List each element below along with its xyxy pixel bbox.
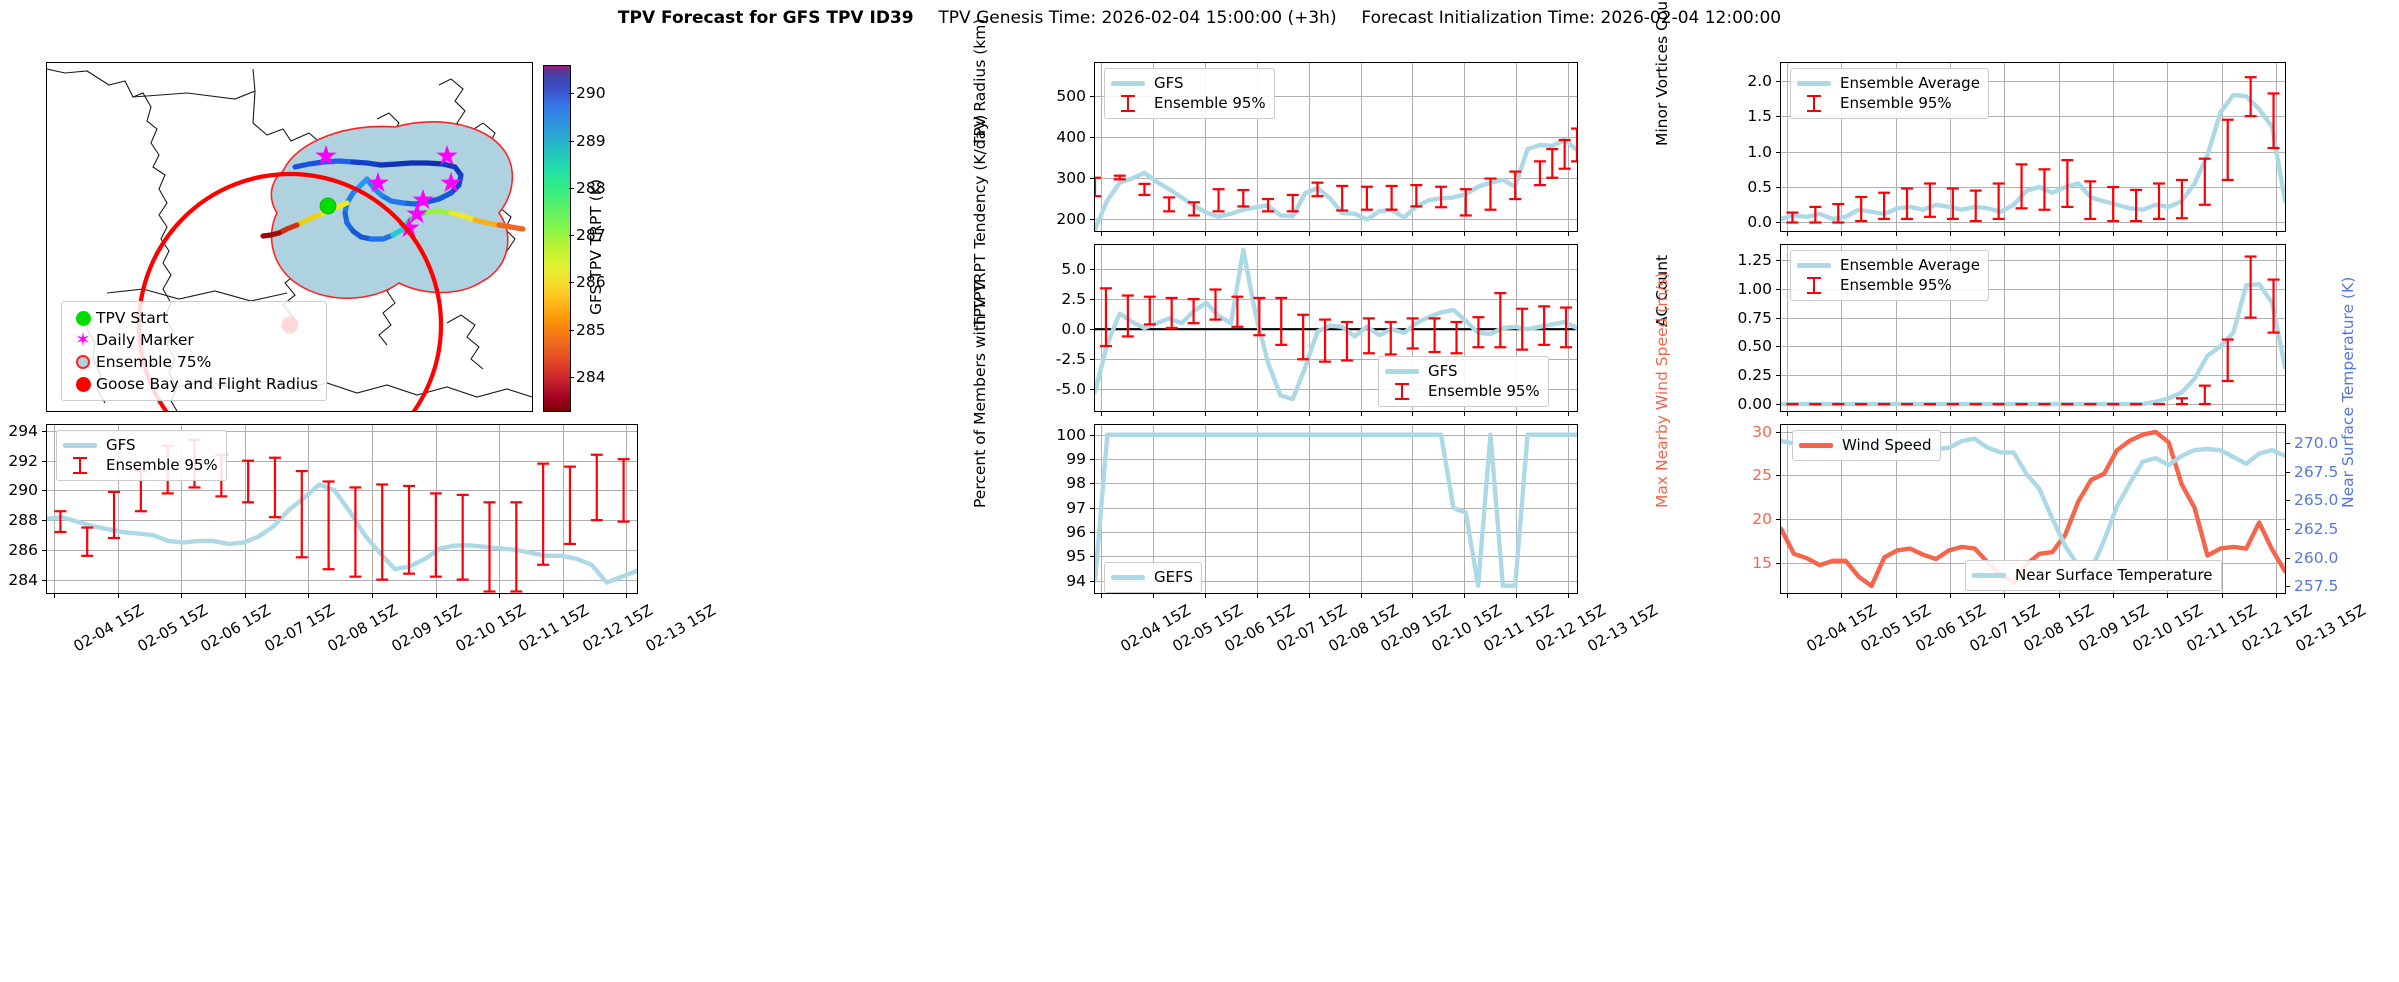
green-dot-icon xyxy=(70,311,96,326)
figure-root: TPV Forecast for GFS TPV ID39 TPV Genesi… xyxy=(0,0,2399,982)
y-tick-label: -5.0 xyxy=(1012,380,1086,398)
x-tickmark xyxy=(2167,232,2168,236)
y-tickmark xyxy=(1090,299,1094,300)
x-tickmark xyxy=(1153,412,1154,416)
x-tickmark xyxy=(1568,412,1569,416)
legend-label: GFS xyxy=(1154,74,1184,92)
y-tickmark xyxy=(1776,187,1780,188)
y-tickmark xyxy=(1776,152,1780,153)
x-tickmark xyxy=(1568,594,1569,598)
y-tick-label: 286 xyxy=(0,541,38,559)
y-tick-label: 97 xyxy=(1012,499,1086,517)
y-tick-label-right: 262.5 xyxy=(2294,520,2338,538)
x-tickmark xyxy=(1568,232,1569,236)
y-tick-label: -2.5 xyxy=(1012,350,1086,368)
x-tickmark xyxy=(1787,232,1788,236)
x-tickmark xyxy=(1787,594,1788,598)
x-tickmark xyxy=(2004,594,2005,598)
x-tickmark xyxy=(2222,232,2223,236)
y-tickmark xyxy=(1776,289,1780,290)
x-tickmark xyxy=(1205,232,1206,236)
map-legend-item-daily-marker: ✶ Daily Marker xyxy=(70,329,318,351)
x-tickmark xyxy=(2113,594,2114,598)
y-tickmark xyxy=(1090,96,1094,97)
x-tickmark xyxy=(1516,594,1517,598)
x-tickmark xyxy=(2222,412,2223,416)
x-tickmark xyxy=(1841,594,1842,598)
map-legend-label: Ensemble 75% xyxy=(96,353,211,371)
colorbar-label: GFS TPV TRPT (K) xyxy=(587,179,605,315)
x-tickmark xyxy=(2113,412,2114,416)
legend-entry: Ensemble Average xyxy=(1797,255,1980,275)
y-tick-label: 0.25 xyxy=(1698,366,1772,384)
y-tick-label: 0.50 xyxy=(1698,337,1772,355)
figure-title: TPV Forecast for GFS TPV ID39 TPV Genesi… xyxy=(0,8,2399,28)
legend-entry: Ensemble 95% xyxy=(63,455,218,475)
y-tickmark xyxy=(1776,375,1780,376)
legend-wind_and_temperature: Wind Speed xyxy=(1792,430,1941,461)
title-main: TPV Forecast for GFS TPV ID39 xyxy=(618,8,914,28)
x-tick-label: 02-07 15Z xyxy=(261,601,337,655)
y-tickmark-right xyxy=(2286,500,2290,501)
y-tickmark xyxy=(1090,329,1094,330)
x-tickmark xyxy=(1896,232,1897,236)
y-tick-label-right: 270.0 xyxy=(2294,434,2338,452)
x-tickmark xyxy=(1257,412,1258,416)
line-swatch-icon xyxy=(1797,263,1831,268)
x-tickmark xyxy=(1257,594,1258,598)
x-tickmark xyxy=(1896,412,1897,416)
tpv-track-map[interactable]: TPV Start ✶ Daily Marker Ensemble 75% Go… xyxy=(46,62,533,412)
x-tickmark xyxy=(1153,594,1154,598)
legend-label: Ensemble 95% xyxy=(1840,94,1952,112)
x-tickmark xyxy=(372,594,373,598)
y-tick-label: 30 xyxy=(1698,423,1772,441)
y-tickmark xyxy=(42,580,46,581)
y-tick-label: 1.0 xyxy=(1698,143,1772,161)
y-tick-label: 290 xyxy=(0,481,38,499)
x-tick-label: 02-08 15Z xyxy=(325,601,401,655)
x-tickmark xyxy=(1412,594,1413,598)
legend-minor_vortices_count: Ensemble AverageEnsemble 95% xyxy=(1790,68,1989,119)
x-tickmark xyxy=(1257,232,1258,236)
y-tickmark xyxy=(1090,359,1094,360)
colorbar-tick-label: 285 xyxy=(576,321,606,339)
x-tickmark xyxy=(1516,232,1517,236)
x-tickmark xyxy=(1412,232,1413,236)
y-tick-label: 25 xyxy=(1698,466,1772,484)
x-tickmark xyxy=(1896,594,1897,598)
legend-label: Ensemble 95% xyxy=(106,456,218,474)
x-tick-label: 02-12 15Z xyxy=(579,601,655,655)
x-tickmark xyxy=(181,594,182,598)
y-tick-label: 100 xyxy=(1012,426,1086,444)
y-tickmark xyxy=(1776,346,1780,347)
x-tickmark xyxy=(1412,412,1413,416)
y-tick-label-right: 260.0 xyxy=(2294,549,2338,567)
legend-entry: Ensemble 95% xyxy=(1111,93,1266,113)
title-genesis: TPV Genesis Time: 2026-02-04 15:00:00 (+… xyxy=(938,8,1336,28)
errorbar-icon xyxy=(1797,95,1831,112)
y-tickmark xyxy=(42,520,46,521)
y-tickmark xyxy=(1090,508,1094,509)
x-tickmark xyxy=(2167,594,2168,598)
map-legend-label: Goose Bay and Flight Radius xyxy=(96,375,318,393)
y-tick-label: 294 xyxy=(0,422,38,440)
map-legend-item-tpv-start: TPV Start xyxy=(70,307,318,329)
y-tickmark xyxy=(1776,519,1780,520)
x-tick-label: 02-09 15Z xyxy=(388,601,464,655)
y-tick-label: 1.25 xyxy=(1698,251,1772,269)
y-tickmark xyxy=(42,431,46,432)
y-tick-label: 0.5 xyxy=(1698,178,1772,196)
map-legend: TPV Start ✶ Daily Marker Ensemble 75% Go… xyxy=(61,301,327,401)
x-tickmark xyxy=(1101,594,1102,598)
x-tickmark xyxy=(2059,412,2060,416)
x-tickmark xyxy=(1101,232,1102,236)
legend-entry: Near Surface Temperature xyxy=(1972,565,2213,585)
line-swatch-icon xyxy=(1797,81,1831,86)
y-tickmark xyxy=(42,461,46,462)
x-tickmark xyxy=(1309,594,1310,598)
legend-entry: GEFS xyxy=(1111,567,1193,587)
y-tick-label: 2.0 xyxy=(1698,72,1772,90)
x-tickmark xyxy=(54,594,55,598)
y-tickmark xyxy=(1776,81,1780,82)
y-tickmark xyxy=(1776,260,1780,261)
y-tickmark xyxy=(1776,116,1780,117)
legend-label: Ensemble Average xyxy=(1840,74,1980,92)
colorbar-tickmark xyxy=(569,330,574,331)
map-legend-item-goose-bay: Goose Bay and Flight Radius xyxy=(70,373,318,395)
x-tickmark xyxy=(2276,232,2277,236)
legend-label: Ensemble 95% xyxy=(1154,94,1266,112)
legend-label: GFS xyxy=(106,436,136,454)
y-tickmark-right xyxy=(2286,472,2290,473)
x-tickmark xyxy=(1205,412,1206,416)
legend-entry: Wind Speed xyxy=(1799,435,1932,455)
y-tickmark xyxy=(1776,222,1780,223)
series-line xyxy=(47,484,637,582)
x-tickmark xyxy=(2222,594,2223,598)
y-tick-label: 0.0 xyxy=(1698,213,1772,231)
x-tickmark xyxy=(2167,412,2168,416)
y-tickmark xyxy=(1090,389,1094,390)
x-tickmark xyxy=(245,594,246,598)
y-tick-label: 95 xyxy=(1012,547,1086,565)
x-tickmark xyxy=(118,594,119,598)
y-tick-label: 0.0 xyxy=(1012,320,1086,338)
x-tickmark xyxy=(1787,412,1788,416)
x-tickmark xyxy=(2059,232,2060,236)
y-tickmark xyxy=(1090,459,1094,460)
y-tick-label: 0.00 xyxy=(1698,395,1772,413)
x-tickmark xyxy=(1950,594,1951,598)
y-tick-label-right: 267.5 xyxy=(2294,463,2338,481)
legend-ac_count: Ensemble AverageEnsemble 95% xyxy=(1790,250,1989,301)
y-tickmark-right xyxy=(2286,529,2290,530)
legend-temperature: Near Surface Temperature xyxy=(1965,560,2222,591)
y-tick-label: 94 xyxy=(1012,572,1086,590)
y-tick-label: 0.75 xyxy=(1698,309,1772,327)
y-tickmark xyxy=(42,550,46,551)
x-tickmark xyxy=(1464,594,1465,598)
legend-tpv_trpt_tendency: GFSEnsemble 95% xyxy=(1378,356,1549,407)
colorbar-tick-label: 284 xyxy=(576,368,606,386)
y-tick-label: 20 xyxy=(1698,510,1772,528)
errorbar-icon xyxy=(1111,95,1145,112)
legend-entry: Ensemble 95% xyxy=(1797,275,1980,295)
colorbar-tickmark xyxy=(569,141,574,142)
x-tickmark xyxy=(1361,412,1362,416)
y-tick-label: 400 xyxy=(1012,128,1086,146)
legend-label: Ensemble Average xyxy=(1840,256,1980,274)
y-tickmark xyxy=(1776,404,1780,405)
x-tickmark xyxy=(2113,232,2114,236)
x-tick-label: 02-04 15Z xyxy=(70,601,146,655)
x-tickmark xyxy=(563,594,564,598)
legend-label: Ensemble 95% xyxy=(1428,382,1540,400)
y-tickmark-right xyxy=(2286,443,2290,444)
x-tickmark xyxy=(1464,412,1465,416)
legend-entry: Ensemble 95% xyxy=(1797,93,1980,113)
x-tickmark xyxy=(1841,412,1842,416)
y-tick-label: 200 xyxy=(1012,210,1086,228)
x-tickmark xyxy=(2059,594,2060,598)
y-tick-label-right: 257.5 xyxy=(2294,577,2338,595)
y-tickmark xyxy=(1090,435,1094,436)
x-tickmark xyxy=(2276,594,2277,598)
y-tickmark-right xyxy=(2286,558,2290,559)
x-tickmark xyxy=(1205,594,1206,598)
y-tickmark xyxy=(1090,269,1094,270)
y-tickmark xyxy=(1776,318,1780,319)
colorbar-tickmark xyxy=(569,188,574,189)
line-swatch-icon xyxy=(1385,369,1419,374)
x-tick-label: 02-10 15Z xyxy=(452,601,528,655)
red-dot-icon xyxy=(70,377,96,392)
errorbar-icon xyxy=(1797,277,1831,294)
y-tick-label: 500 xyxy=(1012,87,1086,105)
colorbar-tickmark xyxy=(569,377,574,378)
x-tickmark xyxy=(1950,412,1951,416)
line-swatch-icon xyxy=(1799,443,1833,448)
colorbar-tick-label: 290 xyxy=(576,84,606,102)
y-tickmark xyxy=(1090,581,1094,582)
x-tick-label: 02-11 15Z xyxy=(516,601,592,655)
y-tickmark-right xyxy=(2286,586,2290,587)
y-tick-label: 300 xyxy=(1012,169,1086,187)
x-tickmark xyxy=(626,594,627,598)
legend-label: Ensemble 95% xyxy=(1840,276,1952,294)
x-tick-label: 02-06 15Z xyxy=(198,601,274,655)
legend-label: GEFS xyxy=(1154,568,1193,586)
colorbar-tickmark xyxy=(569,282,574,283)
line-swatch-icon xyxy=(1111,575,1145,580)
line-swatch-icon xyxy=(63,443,97,448)
x-tick-label: 02-13 15Z xyxy=(643,601,719,655)
colorbar xyxy=(543,65,571,412)
y-tick-label: 15 xyxy=(1698,554,1772,572)
legend-tpv_trpt: GFSEnsemble 95% xyxy=(56,430,227,481)
map-legend-label: TPV Start xyxy=(96,309,168,327)
x-tickmark xyxy=(1516,412,1517,416)
legend-entry: GFS xyxy=(63,435,218,455)
y-tick-label: 5.0 xyxy=(1012,260,1086,278)
title-init: Forecast Initialization Time: 2026-02-04… xyxy=(1361,8,1781,28)
x-tickmark xyxy=(1153,232,1154,236)
x-tickmark xyxy=(2004,232,2005,236)
x-tickmark xyxy=(1309,412,1310,416)
y-tick-label: 292 xyxy=(0,452,38,470)
legend-percent_members_with_tpv: GEFS xyxy=(1104,562,1202,593)
errorbar-icon xyxy=(1385,383,1419,400)
y-tickmark xyxy=(1090,556,1094,557)
x-tickmark xyxy=(1950,232,1951,236)
x-tickmark xyxy=(1464,232,1465,236)
legend-entry: GFS xyxy=(1111,73,1266,93)
y-tick-label: 288 xyxy=(0,511,38,529)
y-tick-label: 1.5 xyxy=(1698,107,1772,125)
y-tickmark xyxy=(42,490,46,491)
magenta-star-icon: ✶ xyxy=(70,331,96,350)
line-swatch-icon xyxy=(1111,81,1145,86)
y-tickmark xyxy=(1090,178,1094,179)
legend-entry: Ensemble 95% xyxy=(1385,381,1540,401)
x-tick-label: 02-05 15Z xyxy=(134,601,210,655)
map-legend-label: Daily Marker xyxy=(96,331,194,349)
ensemble-75-region xyxy=(271,122,512,298)
y-tick-label: 2.5 xyxy=(1012,290,1086,308)
series-line xyxy=(1095,140,1577,229)
x-tickmark xyxy=(1361,232,1362,236)
y-tick-label: 99 xyxy=(1012,450,1086,468)
x-tickmark xyxy=(2276,412,2277,416)
colorbar-tickmark xyxy=(569,93,574,94)
y-tick-label: 96 xyxy=(1012,523,1086,541)
legend-entry: Ensemble Average xyxy=(1797,73,1980,93)
x-tickmark xyxy=(1361,594,1362,598)
colorbar-tickmark xyxy=(569,235,574,236)
y-tickmark xyxy=(1090,219,1094,220)
y-tickmark xyxy=(1090,137,1094,138)
y-tickmark xyxy=(1776,563,1780,564)
y-tick-label-right: 265.0 xyxy=(2294,491,2338,509)
legend-tpv_radius: GFSEnsemble 95% xyxy=(1104,68,1275,119)
x-tickmark xyxy=(1309,232,1310,236)
x-tickmark xyxy=(308,594,309,598)
y-tickmark xyxy=(1090,483,1094,484)
legend-label: Wind Speed xyxy=(1842,436,1932,454)
x-tickmark xyxy=(2004,412,2005,416)
y-tickmark xyxy=(1776,432,1780,433)
blue-ring-icon xyxy=(70,355,96,369)
y-tick-label: 284 xyxy=(0,571,38,589)
y-tickmark xyxy=(1090,532,1094,533)
map-legend-item-ensemble-75: Ensemble 75% xyxy=(70,351,318,373)
legend-label: Near Surface Temperature xyxy=(2015,566,2213,584)
legend-label: GFS xyxy=(1428,362,1458,380)
x-tickmark xyxy=(1101,412,1102,416)
line-swatch-icon xyxy=(1972,573,2006,578)
errorbar-icon xyxy=(63,457,97,474)
y-tick-label: 1.00 xyxy=(1698,280,1772,298)
x-tickmark xyxy=(1841,232,1842,236)
y-tickmark xyxy=(1776,475,1780,476)
legend-entry: GFS xyxy=(1385,361,1540,381)
tpv-start-marker xyxy=(320,198,336,214)
x-tickmark xyxy=(499,594,500,598)
x-tickmark xyxy=(436,594,437,598)
colorbar-tick-label: 289 xyxy=(576,132,606,150)
y-tick-label: 98 xyxy=(1012,474,1086,492)
